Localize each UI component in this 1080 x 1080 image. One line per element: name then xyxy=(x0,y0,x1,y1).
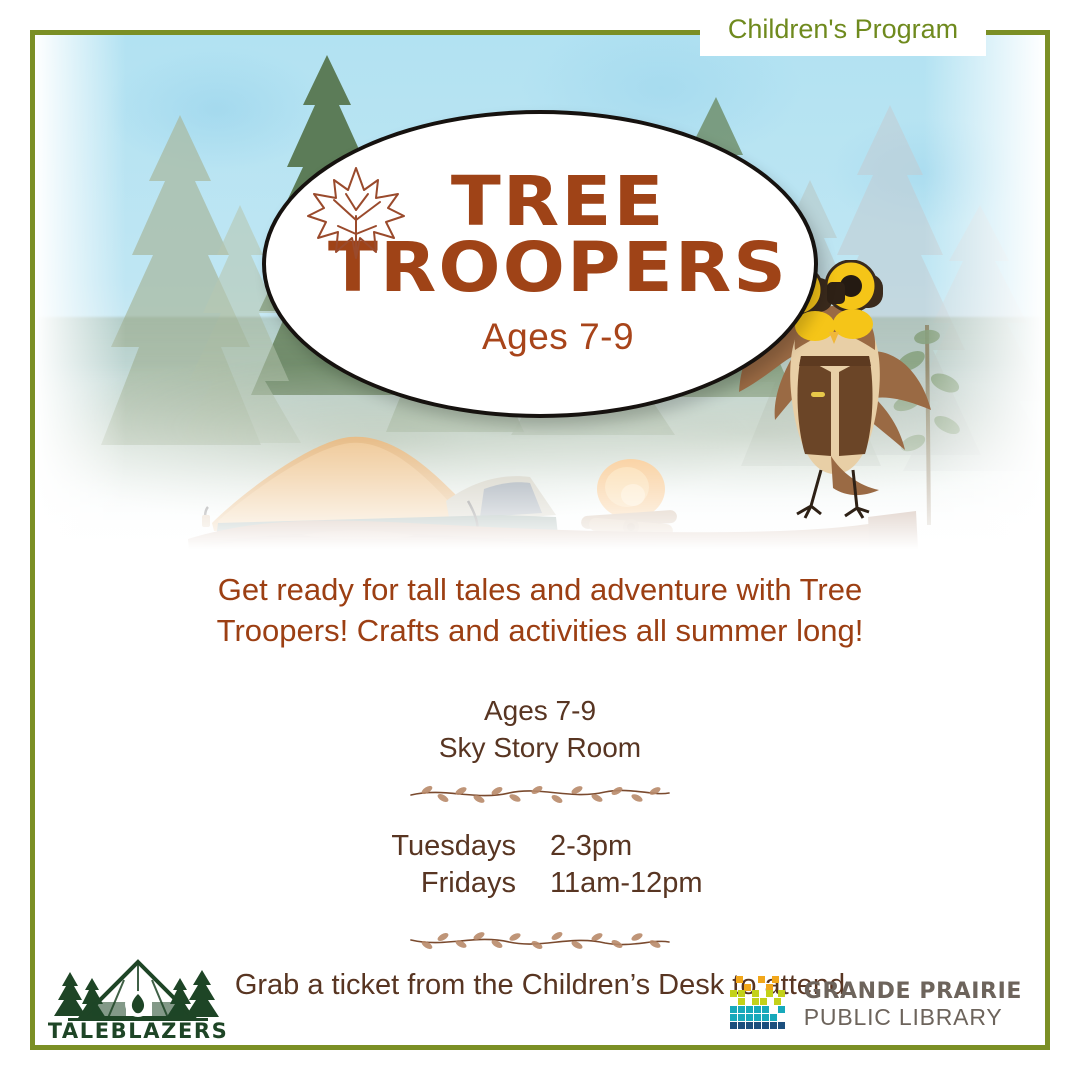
poster-body: Get ready for tall tales and adventure w… xyxy=(70,570,1010,1002)
page-title-line1: TREE xyxy=(451,170,666,236)
taleblazers-wordmark: TALEBLAZERS xyxy=(48,1019,228,1042)
table-row: Tuesdays 2-3pm xyxy=(340,828,740,865)
table-row: Fridays 11am-12pm xyxy=(340,865,740,902)
library-logo: GRANDE PRAIRIE PUBLIC LIBRARY xyxy=(728,972,1022,1038)
schedule-day: Fridays xyxy=(340,865,530,902)
ages-line: Ages 7-9 xyxy=(70,692,1010,729)
maple-leaf-icon xyxy=(302,160,410,266)
childrens-program-badge: Children's Program xyxy=(700,8,986,50)
schedule-table: Tuesdays 2-3pm Fridays 11am-12pm xyxy=(340,828,740,902)
schedule-day: Tuesdays xyxy=(340,828,530,865)
schedule-time: 11am-12pm xyxy=(530,865,740,902)
library-name-line1: GRANDE PRAIRIE xyxy=(804,981,1022,1003)
vine-divider-bottom xyxy=(405,929,675,953)
intro-text: Get ready for tall tales and adventure w… xyxy=(190,570,890,652)
library-name-line2: PUBLIC LIBRARY xyxy=(804,1006,1022,1029)
library-pixel-mark-icon xyxy=(728,976,790,1034)
schedule-time: 2-3pm xyxy=(530,828,740,865)
title-subtitle: Ages 7-9 xyxy=(482,316,634,358)
vine-divider-top xyxy=(405,782,675,806)
poster: TREE TROOPERS Ages 7-9 Get ready for tal… xyxy=(0,0,1080,1080)
room-line: Sky Story Room xyxy=(70,729,1010,766)
badge-label: Children's Program xyxy=(728,14,958,45)
taleblazers-logo: TALEBLAZERS xyxy=(48,956,228,1042)
